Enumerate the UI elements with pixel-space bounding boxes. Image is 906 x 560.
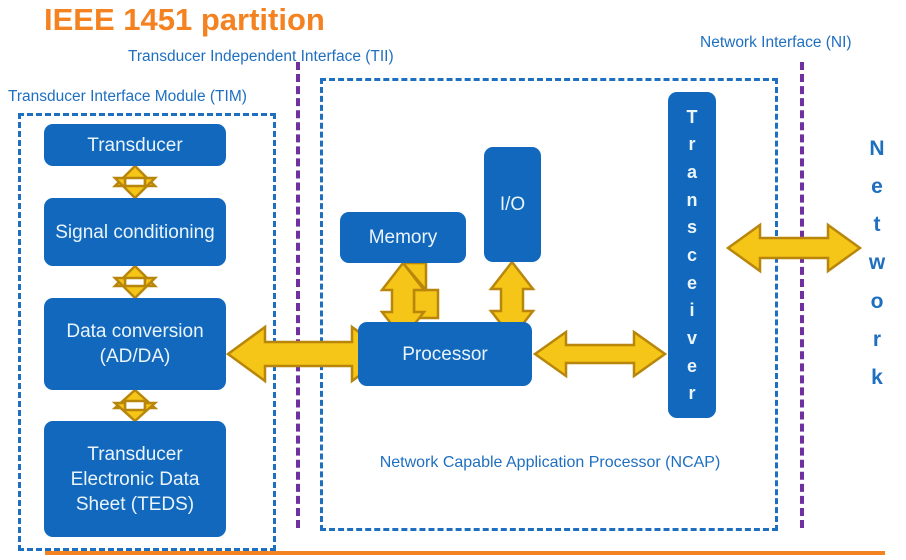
label-network: Network [860,138,894,388]
vertical-char: c [687,246,697,264]
vertical-char: T [687,108,698,126]
caption-ni: Network Interface (NI) [700,34,852,52]
block-teds[interactable]: Transducer Electronic Data Sheet (TEDS) [44,421,226,537]
tii-interface-line [296,62,300,528]
caption-tim: Transducer Interface Module (TIM) [8,88,247,106]
vertical-char: r [688,135,695,153]
vertical-char: a [687,163,697,181]
vertical-char: N [869,138,884,159]
vertical-char: e [687,357,697,375]
block-io[interactable]: I/O [484,147,541,262]
vertical-char: v [687,329,697,347]
vertical-char: r [688,384,695,402]
block-transducer[interactable]: Transducer [44,124,226,166]
vertical-char: t [874,214,881,235]
vertical-char: e [687,274,697,292]
vertical-char: i [689,301,694,319]
slide-canvas: IEEE 1451 partition Transducer Independe… [0,0,906,560]
block-processor[interactable]: Processor [358,322,532,386]
caption-tii: Transducer Independent Interface (TII) [128,48,394,66]
vertical-char: s [687,218,697,236]
vertical-char: n [687,191,698,209]
vertical-char: r [873,329,881,350]
block-data-conversion[interactable]: Data conversion (AD/DA) [44,298,226,390]
ni-interface-line [800,62,804,528]
vertical-char: w [869,252,885,273]
vertical-char: o [871,291,884,312]
page-title: IEEE 1451 partition [44,2,325,38]
block-memory[interactable]: Memory [340,212,466,263]
caption-ncap: Network Capable Application Processor (N… [330,452,770,473]
vertical-char: e [871,176,883,197]
bottom-accent-rule [45,551,885,555]
block-transceiver[interactable]: Transceiver [668,92,716,418]
block-signal-conditioning[interactable]: Signal conditioning [44,198,226,266]
vertical-char: k [871,367,883,388]
